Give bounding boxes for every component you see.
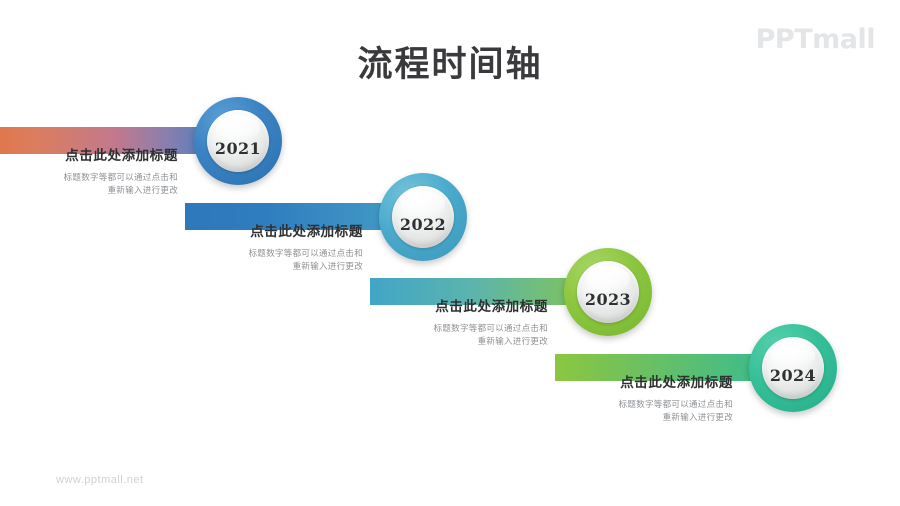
step-4-description-line-2: 重新输入进行更改 xyxy=(555,412,733,425)
slide-canvas: PPTmall 流程时间轴 点击此处添加标题 标题数字等都可以通过点击和 重新输… xyxy=(0,0,900,506)
step-1-description-line-1: 标题数字等都可以通过点击和 xyxy=(0,172,178,185)
step-4-title: 点击此处添加标题 xyxy=(555,371,733,391)
step-3-title: 点击此处添加标题 xyxy=(370,295,548,315)
step-4-text-block: 点击此处添加标题 标题数字等都可以通过点击和 重新输入进行更改 xyxy=(555,371,733,425)
step-3-description-line-1: 标题数字等都可以通过点击和 xyxy=(370,323,548,336)
step-1-title: 点击此处添加标题 xyxy=(0,144,178,164)
year-node-2023[interactable]: 2023 xyxy=(564,248,652,336)
timeline-step-4[interactable]: 点击此处添加标题 标题数字等都可以通过点击和 重新输入进行更改 2024 xyxy=(0,345,900,455)
year-label-2021: 2021 xyxy=(215,139,261,172)
footer-url[interactable]: www.pptmall.net xyxy=(56,474,144,486)
year-label-2022: 2022 xyxy=(400,215,446,248)
year-node-2021[interactable]: 2021 xyxy=(194,97,282,185)
year-node-2021-sphere: 2021 xyxy=(207,110,269,172)
year-label-2023: 2023 xyxy=(585,290,631,323)
year-node-2023-sphere: 2023 xyxy=(577,261,639,323)
year-node-2024[interactable]: 2024 xyxy=(749,324,837,412)
page-title: 流程时间轴 xyxy=(0,36,900,87)
step-2-description-line-1: 标题数字等都可以通过点击和 xyxy=(185,248,363,261)
step-3-text-block: 点击此处添加标题 标题数字等都可以通过点击和 重新输入进行更改 xyxy=(370,295,548,349)
step-2-text-block: 点击此处添加标题 标题数字等都可以通过点击和 重新输入进行更改 xyxy=(185,220,363,274)
step-1-text-block: 点击此处添加标题 标题数字等都可以通过点击和 重新输入进行更改 xyxy=(0,144,178,198)
step-2-title: 点击此处添加标题 xyxy=(185,220,363,240)
year-node-2022-sphere: 2022 xyxy=(392,186,454,248)
year-node-2022[interactable]: 2022 xyxy=(379,173,467,261)
year-label-2024: 2024 xyxy=(770,366,816,399)
year-node-2024-sphere: 2024 xyxy=(762,337,824,399)
step-4-description-line-1: 标题数字等都可以通过点击和 xyxy=(555,399,733,412)
step-4-description: 标题数字等都可以通过点击和 重新输入进行更改 xyxy=(555,399,733,425)
